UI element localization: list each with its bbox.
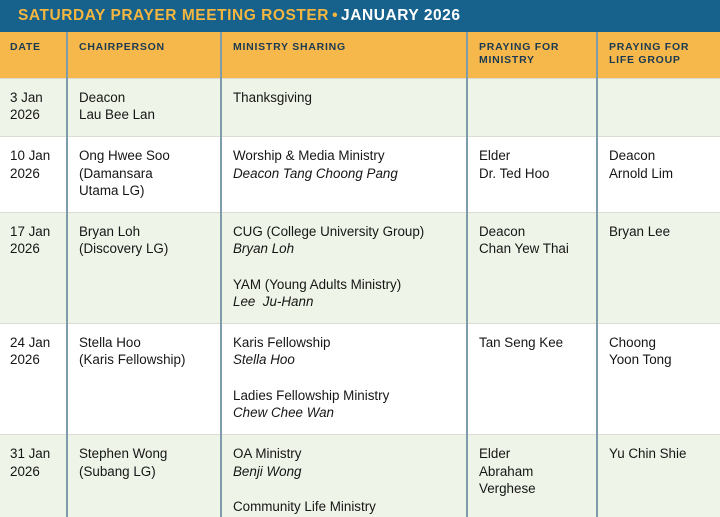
cell-ministry-sharing: CUG (College University Group)Bryan LohY…	[221, 212, 467, 323]
column-header-chairperson: CHAIRPERSON	[67, 32, 221, 78]
cell-date: 3 Jan 2026	[0, 78, 67, 136]
ministry-block: Community Life MinistryLee Henn	[233, 498, 457, 517]
cell-chairperson: Bryan Loh (Discovery LG)	[67, 212, 221, 323]
cell-ministry-sharing: Worship & Media MinistryDeacon Tang Choo…	[221, 136, 467, 212]
column-header-row: DATE CHAIRPERSON MINISTRY SHARING PRAYIN…	[0, 32, 720, 78]
column-header-praying-for-ministry: PRAYING FOR MINISTRY	[467, 32, 597, 78]
cell-date: 31 Jan 2026	[0, 434, 67, 517]
cell-date: 10 Jan 2026	[0, 136, 67, 212]
cell-ministry-sharing: OA MinistryBenji WongCommunity Life Mini…	[221, 434, 467, 517]
ministry-person: Stella Hoo	[233, 351, 457, 369]
table-row: 3 Jan 2026Deacon Lau Bee LanThanksgiving	[0, 78, 720, 136]
ministry-title: Worship & Media Ministry	[233, 147, 457, 165]
ministry-title: YAM (Young Adults Ministry)	[233, 276, 457, 294]
ministry-title: OA Ministry	[233, 445, 457, 463]
cell-chairperson: Ong Hwee Soo (Damansara Utama LG)	[67, 136, 221, 212]
ministry-title: Ladies Fellowship Ministry	[233, 387, 457, 405]
page-title: SATURDAY PRAYER MEETING ROSTER•JANUARY 2…	[18, 8, 461, 24]
ministry-block: CUG (College University Group)Bryan Loh	[233, 223, 457, 258]
ministry-block: YAM (Young Adults Ministry)Lee Ju-Hann	[233, 276, 457, 311]
ministry-person: Chew Chee Wan	[233, 404, 457, 422]
ministry-block: OA MinistryBenji Wong	[233, 445, 457, 480]
column-header-date: DATE	[0, 32, 67, 78]
title-separator-bullet: •	[329, 7, 341, 24]
ministry-block: Worship & Media MinistryDeacon Tang Choo…	[233, 147, 457, 182]
table-row: 24 Jan 2026Stella Hoo (Karis Fellowship)…	[0, 323, 720, 434]
cell-praying-for-ministry: Elder Dr. Ted Hoo	[467, 136, 597, 212]
table-head: DATE CHAIRPERSON MINISTRY SHARING PRAYIN…	[0, 32, 720, 78]
cell-praying-for-ministry: Tan Seng Kee	[467, 323, 597, 434]
ministry-title: Thanksgiving	[233, 89, 457, 107]
ministry-person: Benji Wong	[233, 463, 457, 481]
cell-chairperson: Stella Hoo (Karis Fellowship)	[67, 323, 221, 434]
cell-praying-for-life-group	[597, 78, 720, 136]
ministry-title: CUG (College University Group)	[233, 223, 457, 241]
cell-date: 24 Jan 2026	[0, 323, 67, 434]
table-row: 10 Jan 2026Ong Hwee Soo (Damansara Utama…	[0, 136, 720, 212]
ministry-person: Lee Ju-Hann	[233, 293, 457, 311]
cell-praying-for-ministry: Elder Abraham Verghese	[467, 434, 597, 517]
cell-date: 17 Jan 2026	[0, 212, 67, 323]
cell-chairperson: Stephen Wong (Subang LG)	[67, 434, 221, 517]
table-body: 3 Jan 2026Deacon Lau Bee LanThanksgiving…	[0, 78, 720, 517]
column-header-ministry-sharing: MINISTRY SHARING	[221, 32, 467, 78]
roster-table: DATE CHAIRPERSON MINISTRY SHARING PRAYIN…	[0, 32, 720, 517]
ministry-title: Karis Fellowship	[233, 334, 457, 352]
cell-praying-for-ministry	[467, 78, 597, 136]
roster-page: SATURDAY PRAYER MEETING ROSTER•JANUARY 2…	[0, 0, 720, 517]
cell-praying-for-life-group: Bryan Lee	[597, 212, 720, 323]
cell-praying-for-life-group: Yu Chin Shie	[597, 434, 720, 517]
ministry-block: Karis FellowshipStella Hoo	[233, 334, 457, 369]
ministry-block: Ladies Fellowship MinistryChew Chee Wan	[233, 387, 457, 422]
title-main-text: SATURDAY PRAYER MEETING ROSTER	[18, 7, 329, 24]
cell-ministry-sharing: Thanksgiving	[221, 78, 467, 136]
title-month-year: JANUARY 2026	[341, 7, 460, 24]
table-row: 17 Jan 2026Bryan Loh (Discovery LG)CUG (…	[0, 212, 720, 323]
ministry-person: Bryan Loh	[233, 240, 457, 258]
table-row: 31 Jan 2026Stephen Wong (Subang LG)OA Mi…	[0, 434, 720, 517]
column-header-praying-for-life-group: PRAYING FOR LIFE GROUP	[597, 32, 720, 78]
cell-praying-for-life-group: Deacon Arnold Lim	[597, 136, 720, 212]
title-bar: SATURDAY PRAYER MEETING ROSTER•JANUARY 2…	[0, 0, 720, 32]
ministry-person: Deacon Tang Choong Pang	[233, 165, 457, 183]
cell-chairperson: Deacon Lau Bee Lan	[67, 78, 221, 136]
cell-praying-for-ministry: Deacon Chan Yew Thai	[467, 212, 597, 323]
cell-praying-for-life-group: Choong Yoon Tong	[597, 323, 720, 434]
ministry-title: Community Life Ministry	[233, 498, 457, 516]
cell-ministry-sharing: Karis FellowshipStella HooLadies Fellows…	[221, 323, 467, 434]
ministry-block: Thanksgiving	[233, 89, 457, 107]
